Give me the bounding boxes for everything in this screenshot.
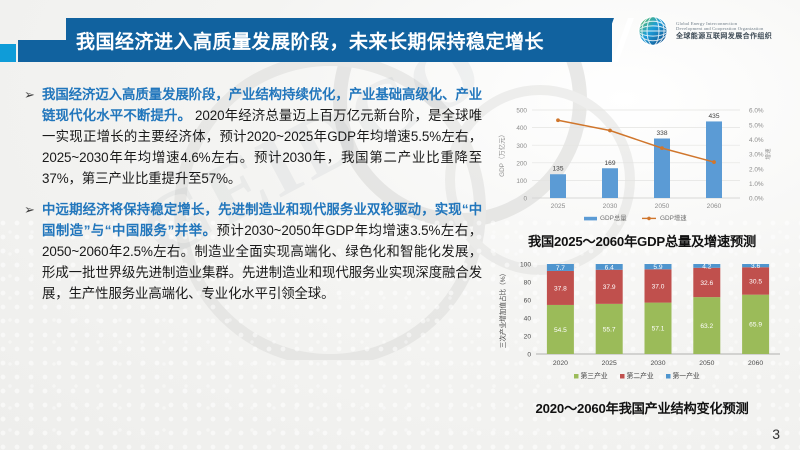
legend-swatch: [666, 374, 671, 379]
y-axis-tick-label: 0: [523, 196, 527, 203]
segment-value-label: 4.2: [702, 263, 711, 270]
bar-value-label: 338: [656, 130, 667, 137]
y2-axis-tick-label: 0.0%: [749, 196, 764, 203]
segment-value-label: 37.0: [652, 283, 665, 290]
x-axis-category-label: 2030: [603, 203, 618, 210]
page-title: 我国经济进入高质量发展阶段，未来长期保持稳定增长: [66, 27, 544, 54]
y-axis-tick-label: 100: [516, 178, 527, 185]
segment-value-label: 30.5: [749, 278, 762, 285]
line-data-point: [608, 129, 612, 133]
header-accent-block: [18, 40, 66, 62]
bar: [550, 174, 566, 198]
x-axis-category-label: 2030: [650, 360, 665, 367]
segment-value-label: 3.6: [751, 263, 760, 270]
bar: [706, 121, 722, 198]
x-axis-category-label: 2060: [748, 360, 763, 367]
x-axis-category-label: 2025: [602, 360, 617, 367]
segment-value-label: 37.9: [603, 284, 616, 291]
segment-value-label: 32.6: [700, 280, 713, 287]
x-axis-category-label: 2020: [553, 360, 568, 367]
growth-line: [558, 120, 714, 162]
bar-value-label: 169: [604, 160, 615, 167]
legend-swatch: [620, 374, 625, 379]
logo-text-cn: 全球能源互联网发展合作组织: [676, 33, 772, 41]
y-axis-tick-label: 80: [524, 280, 532, 287]
y2-axis-tick-label: 4.0%: [749, 137, 764, 144]
x-axis-category-label: 2050: [699, 360, 714, 367]
legend-label: 第三产业: [581, 371, 608, 380]
y2-axis-tick-label: 5.0%: [749, 122, 764, 129]
industry-chart-caption: 2020～2060年我国产业结构变化预测: [492, 398, 792, 417]
header-accent-square: [0, 44, 16, 62]
segment-value-label: 54.5: [554, 327, 567, 334]
bullet-item: ➢ 中远期经济将保持稳定增长，先进制造业和现代服务业双轮驱动，实现“中国制造”与…: [24, 199, 482, 304]
y2-axis-tick-label: 2.0%: [749, 166, 764, 173]
legend-label: 第一产业: [673, 371, 700, 380]
x-axis-category-label: 2025: [551, 203, 566, 210]
gdp-chart-caption: 我国2025～2060年GDP总量及增速预测: [492, 231, 792, 250]
globe-icon: [636, 14, 670, 48]
segment-value-label: 5.9: [653, 264, 662, 271]
page-number: 3: [772, 426, 780, 442]
chart-legend: GDP总量GDP增速: [584, 213, 687, 222]
segment-value-label: 6.4: [605, 264, 614, 271]
logo-text-en-line2: Development and Cooperation Organization: [676, 26, 772, 31]
y-axis-tick-label: 40: [524, 316, 532, 323]
y2-axis-tick-label: 1.0%: [749, 181, 764, 188]
x-axis-category-label: 2050: [655, 203, 670, 210]
line-data-point: [556, 118, 560, 122]
y-axis-title: GDP（万亿元）: [497, 131, 506, 177]
bullet-arrow-icon: ➢: [24, 84, 42, 105]
segment-value-label: 7.7: [556, 265, 565, 272]
bar-value-label: 435: [708, 113, 719, 120]
y2-axis-tick-label: 3.0%: [749, 152, 764, 159]
y2-axis-title: 增速: [764, 148, 772, 160]
body-text-column: ➢ 我国经济迈入高质量发展阶段，产业结构持续优化，产业基础高级化、产业链现代化水…: [24, 84, 482, 314]
bullet-item: ➢ 我国经济迈入高质量发展阶段，产业结构持续优化，产业基础高级化、产业链现代化水…: [24, 84, 482, 189]
legend-label: GDP总量: [600, 213, 627, 222]
y-axis-tick-label: 500: [516, 108, 527, 115]
segment-value-label: 63.2: [700, 323, 713, 330]
y-axis-tick-label: 300: [516, 143, 527, 150]
line-data-point: [660, 146, 664, 150]
y-axis-tick-label: 20: [524, 334, 532, 341]
bullet-arrow-icon: ➢: [24, 199, 42, 220]
slide-title-bar: 我国经济进入高质量发展阶段，未来长期保持稳定增长: [66, 18, 604, 62]
legend-label: GDP增速: [660, 213, 687, 222]
segment-value-label: 37.8: [554, 285, 567, 292]
segment-value-label: 65.9: [749, 322, 762, 329]
gdp-total-and-growth-chart: 01002003004005000.0%1.0%2.0%3.0%4.0%5.0%…: [492, 96, 792, 228]
legend-swatch: [584, 217, 597, 221]
y-axis-tick-label: 200: [516, 160, 527, 167]
y-axis-tick-label: 0: [527, 352, 531, 359]
industry-structure-chart: 02040608010054.537.87.7202055.737.96.420…: [492, 250, 792, 395]
segment-value-label: 57.1: [652, 326, 665, 333]
bar: [602, 168, 618, 198]
y-axis-tick-label: 60: [524, 298, 532, 305]
y-axis-tick-label: 400: [516, 125, 527, 132]
line-data-point: [712, 160, 716, 164]
y-axis-tick-label: 100: [520, 262, 531, 269]
chart-legend: 第三产业第二产业第一产业: [574, 371, 700, 380]
legend-swatch: [574, 374, 579, 379]
y-axis-title: 三次产业增加值占比（%）: [498, 270, 507, 348]
slide-canvas: GEIDCO 我国经济进入高质量发展阶段，未来长期保持稳定增长: [0, 0, 800, 450]
y2-axis-tick-label: 6.0%: [749, 108, 764, 115]
bullet-text: 中远期经济将保持稳定增长，先进制造业和现代服务业双轮驱动，实现“中国制造”与“中…: [42, 199, 482, 304]
bar-value-label: 135: [552, 166, 563, 173]
x-axis-category-label: 2060: [707, 203, 722, 210]
bullet-text: 我国经济迈入高质量发展阶段，产业结构持续优化，产业基础高级化、产业链现代化水平不…: [42, 84, 482, 189]
legend-marker: [647, 217, 651, 221]
legend-label: 第二产业: [627, 371, 654, 380]
segment-value-label: 55.7: [603, 326, 616, 333]
organization-logo: Global Energy Interconnection Developmen…: [636, 14, 772, 48]
